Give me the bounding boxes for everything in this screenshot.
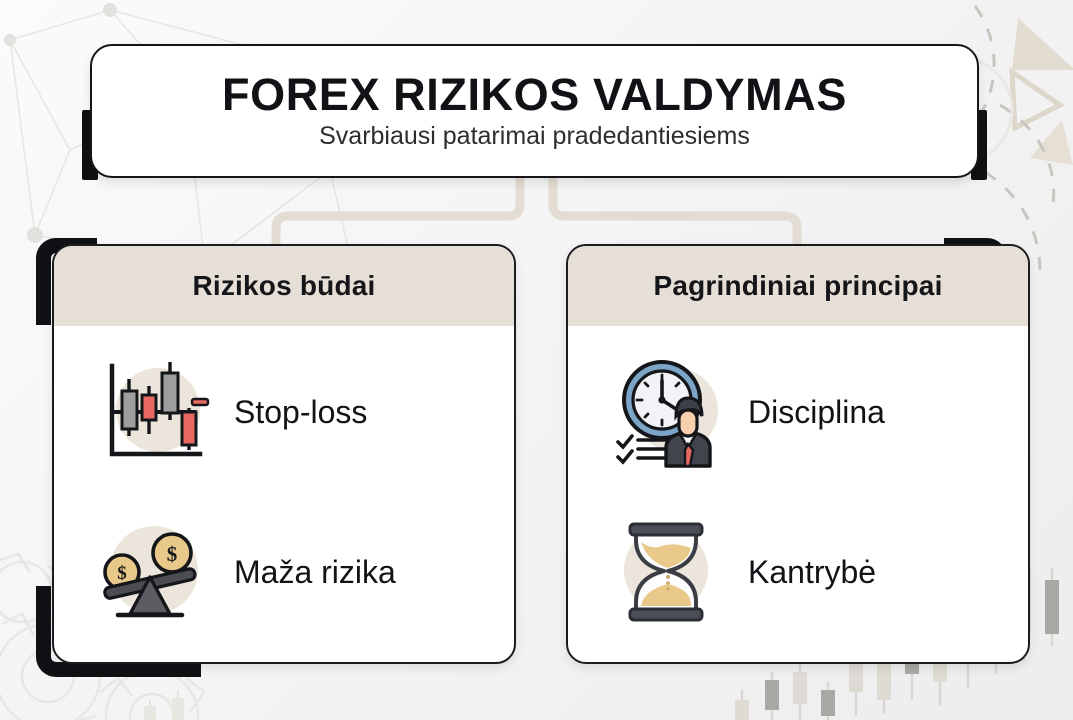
- card-body-pagrindiniai-principai: Disciplina: [568, 326, 1028, 662]
- list-item-label: Maža rizika: [234, 554, 396, 591]
- svg-text:$: $: [117, 563, 127, 584]
- svg-text:$: $: [167, 542, 178, 566]
- balance-scale-coins-icon: $ $: [96, 514, 212, 630]
- list-item-label: Stop-loss: [234, 394, 367, 431]
- list-item-kantrybe[interactable]: Kantrybė: [568, 514, 1028, 630]
- candlestick-chart-icon: [96, 354, 212, 470]
- page-title: FOREX RIZIKOS VALDYMAS: [222, 71, 847, 118]
- card-header-label: Pagrindiniai principai: [653, 270, 942, 302]
- hourglass-icon: [610, 514, 726, 630]
- title-card: FOREX RIZIKOS VALDYMAS Svarbiausi patari…: [90, 44, 979, 178]
- clock-businessman-checklist-icon: [610, 354, 726, 470]
- list-item-disciplina[interactable]: Disciplina: [568, 354, 1028, 470]
- list-item-maza-rizika[interactable]: $ $ Maža rizika: [54, 514, 514, 630]
- card-rizikos-budai: Rizikos būdai: [52, 244, 516, 664]
- card-header-label: Rizikos būdai: [192, 270, 375, 302]
- list-item-stop-loss[interactable]: Stop-loss: [54, 354, 514, 470]
- card-pagrindiniai-principai: Pagrindiniai principai: [566, 244, 1030, 664]
- small-candlestick-decoration: [144, 690, 184, 720]
- list-item-label: Disciplina: [748, 394, 885, 431]
- page-subtitle: Svarbiausi patarimai pradedantiesiems: [319, 122, 750, 151]
- card-body-rizikos-budai: Stop-loss $ $ Ma: [54, 326, 514, 662]
- card-header-rizikos-budai: Rizikos būdai: [54, 246, 514, 326]
- triangle-decoration: [1012, 18, 1073, 165]
- list-item-label: Kantrybė: [748, 554, 876, 591]
- title-section: FOREX RIZIKOS VALDYMAS Svarbiausi patari…: [90, 44, 979, 178]
- card-header-pagrindiniai-principai: Pagrindiniai principai: [568, 246, 1028, 326]
